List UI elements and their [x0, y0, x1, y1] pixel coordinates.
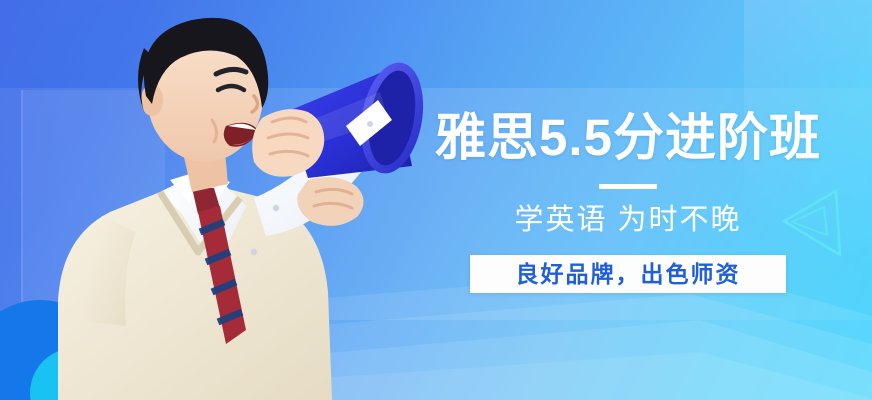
badge-label: 良好品牌，出色师资 [516, 263, 741, 286]
page-title: 雅思5.5分进阶班 [418, 108, 838, 168]
banner-text-block: 雅思5.5分进阶班 学英语 为时不晚 良好品牌，出色师资 [418, 108, 838, 293]
promo-banner: 雅思5.5分进阶班 学英语 为时不晚 良好品牌，出色师资 [0, 0, 872, 400]
status-badge: 良好品牌，出色师资 [470, 255, 786, 293]
young-man-with-megaphone-illustration [40, 0, 460, 400]
banner-subtitle: 学英语 为时不晚 [418, 201, 838, 239]
title-divider [599, 184, 657, 189]
